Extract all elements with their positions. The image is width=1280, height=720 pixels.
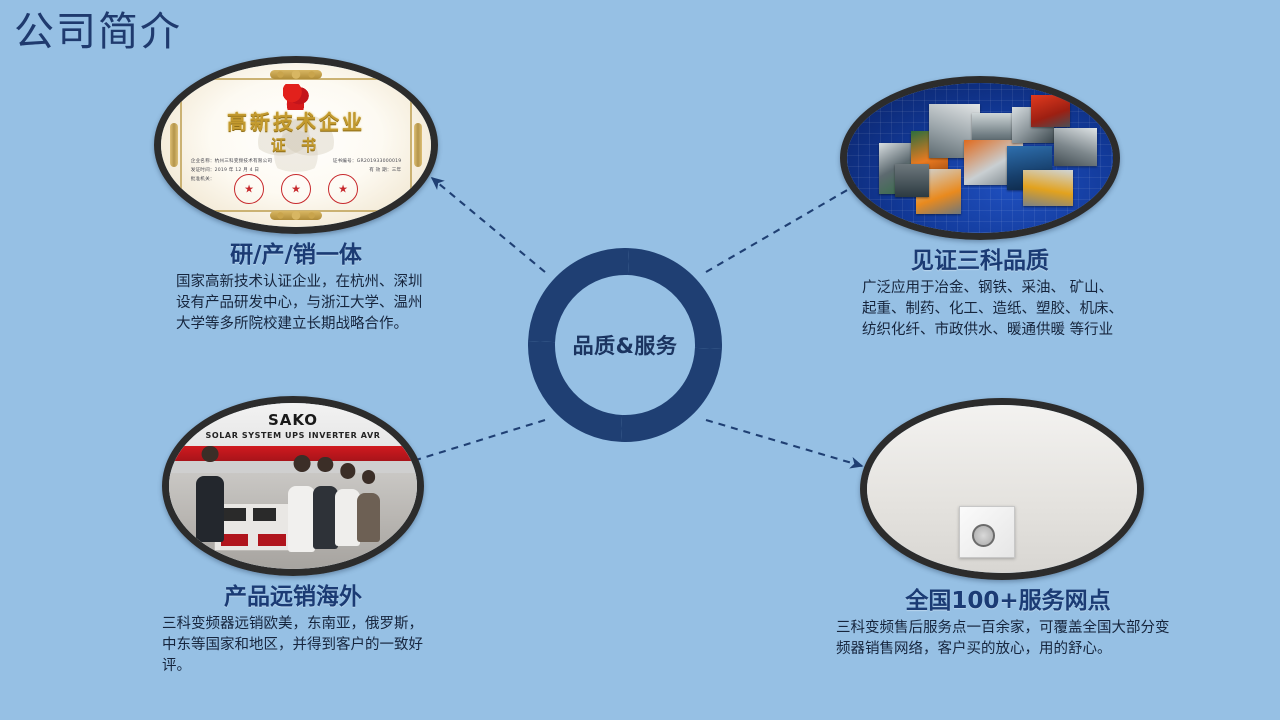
exhibition-booth-image: SAKO SOLAR SYSTEM UPS INVERTER AVR [162,396,424,576]
booth-visitor [288,486,315,552]
certificate-subtitle: 证 书 [161,134,431,155]
product-box [959,506,1015,558]
node-overseas-export[interactable]: SAKO SOLAR SYSTEM UPS INVERTER AVR [148,396,438,677]
center-hub: 品质&服务 [528,248,722,442]
booth-product [253,508,275,521]
certificate-ornament-top [270,70,322,79]
service-technicians-image [860,398,1144,580]
certificate-ornament-bottom [270,211,322,220]
node-witness-sanke-quality[interactable]: 见证三科品质 广泛应用于冶金、钢铁、采油、 矿山、起重、制药、化工、造纸、塑胶、… [830,76,1130,341]
node-rd-production-sales[interactable]: 高新技术企业 证 书 企业名称：杭州三科变频技术有限公司 证书编号：GR2019… [150,56,442,335]
booth-visitor [335,489,360,545]
industrial-collage-image [840,76,1120,240]
collage-artwork [847,83,1113,233]
certificate-field-number: 证书编号：GR201933000019 [333,158,402,164]
page-title: 公司简介 [14,8,182,56]
collage-tile [1031,95,1071,127]
booth-visitor [357,493,379,543]
certificate-artwork: 高新技术企业 证 书 企业名称：杭州三科变频技术有限公司 证书编号：GR2019… [161,63,431,227]
node-title: 产品远销海外 [148,582,438,612]
booth-artwork: SAKO SOLAR SYSTEM UPS INVERTER AVR [169,403,417,569]
certificate-title: 高新技术企业 [161,106,431,135]
seal-icon [281,174,311,204]
certificate-image: 高新技术企业 证 书 企业名称：杭州三科变频技术有限公司 证书编号：GR2019… [154,56,438,234]
booth-tagline-label: SOLAR SYSTEM UPS INVERTER AVR [169,431,417,440]
booth-visitor [313,486,338,549]
collage-tile [1023,170,1074,206]
node-title: 见证三科品质 [830,246,1130,276]
seal-icon [328,174,358,204]
node-title: 研/产/销一体 [150,240,442,270]
node-body: 国家高新技术认证企业，在杭州、深圳设有产品研发中心，与浙江大学、温州大学等多所院… [150,272,442,335]
certificate-field-date: 发证时间：2019 年 12 月 4 日 [191,167,260,173]
certificate-field-company: 企业名称：杭州三科变频技术有限公司 [191,158,273,164]
booth-visitor [196,476,223,542]
collage-tile [895,164,930,197]
slide-canvas: 公司简介 品质&服务 [0,0,1280,720]
technicians-artwork [867,405,1137,573]
hub-label: 品质&服务 [528,248,722,442]
booth-product [258,534,285,546]
booth-product [224,508,246,521]
booth-product [221,534,248,546]
seal-icon [234,174,264,204]
node-service-network[interactable]: 全国100+服务网点 三科变频售后服务点一百余家，可覆盖全国大部分变频器销售网络… [836,398,1180,660]
certificate-field-validity: 有 效 期：三年 [369,167,401,173]
certificate-seals [161,174,431,204]
node-body: 广泛应用于冶金、钢铁、采油、 矿山、起重、制药、化工、造纸、塑胶、机床、纺织化纤… [830,278,1130,341]
booth-brand-label: SAKO [169,411,417,429]
node-title: 全国100+服务网点 [836,586,1180,616]
collage-tile [1054,128,1097,166]
node-body: 三科变频器远销欧美，东南亚，俄罗斯，中东等国家和地区，并得到客户的一致好评。 [148,614,438,677]
node-body: 三科变频售后服务点一百余家，可覆盖全国大部分变频器销售网络，客户买的放心，用的舒… [836,618,1180,660]
